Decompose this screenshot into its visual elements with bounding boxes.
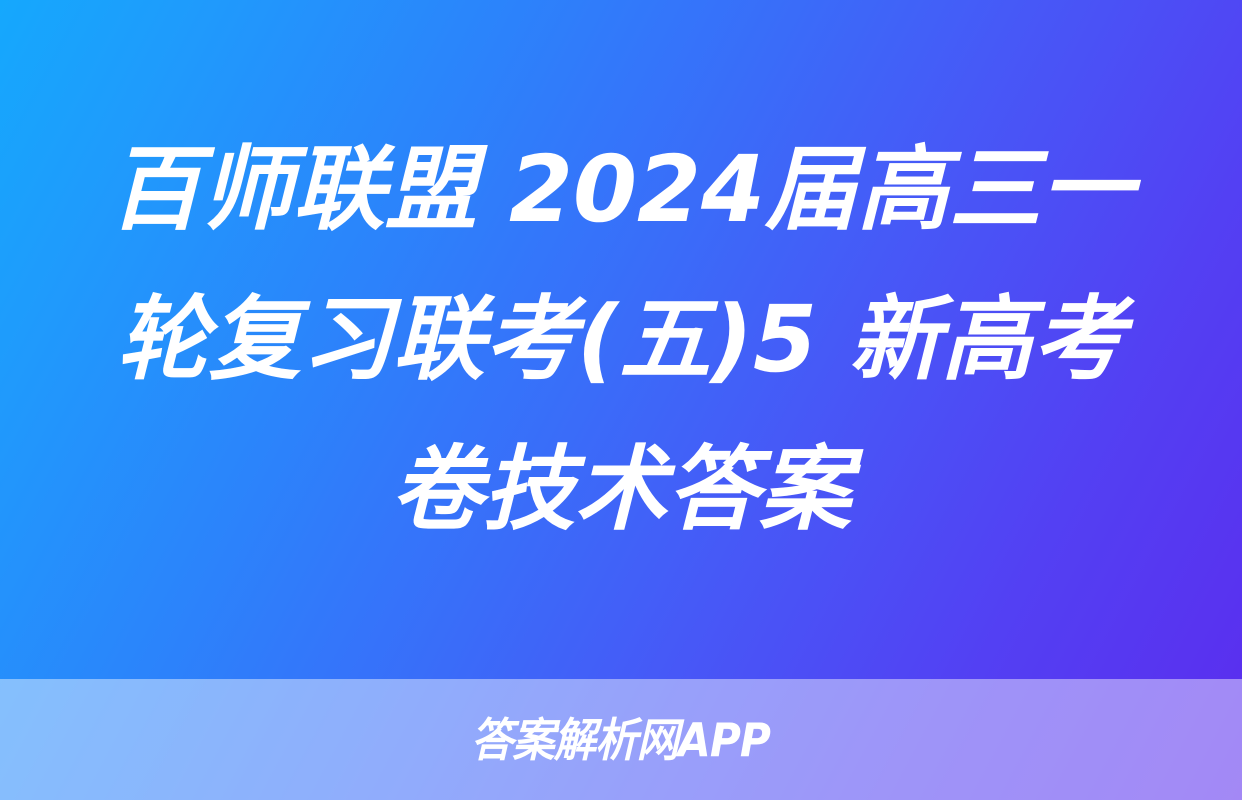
watermark-label: 答案解析网APP [471,717,770,763]
answer-cover-card: 百师联盟 2024届高三一轮复习联考(五)5 新高考卷技术答案 答案解析网APP [0,0,1242,800]
watermark-band: 答案解析网APP [0,679,1242,800]
page-title: 百师联盟 2024届高三一轮复习联考(五)5 新高考卷技术答案 [78,115,1164,565]
title-block: 百师联盟 2024届高三一轮复习联考(五)5 新高考卷技术答案 [0,0,1242,679]
